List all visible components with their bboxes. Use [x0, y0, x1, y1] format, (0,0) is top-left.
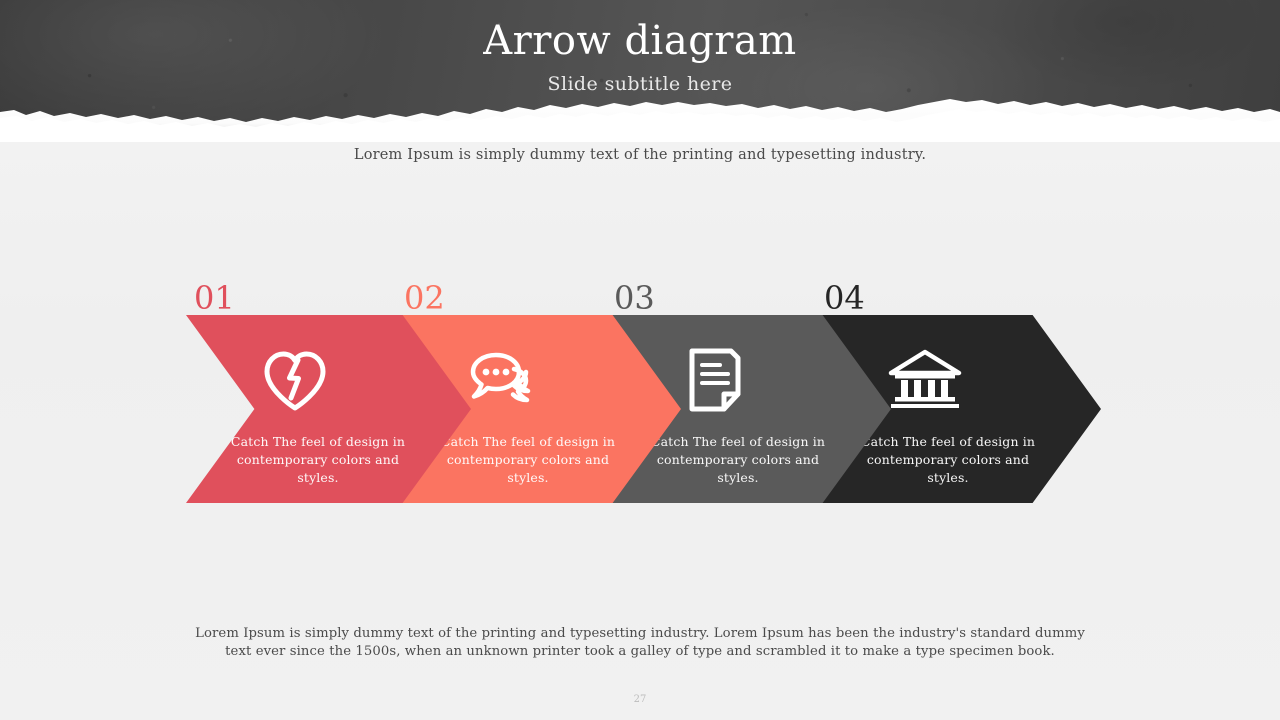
arrow-step-number-3: 03 [614, 282, 655, 314]
arrow-step-caption-1: Catch The feel of design in contemporary… [228, 433, 408, 486]
slide-canvas: Arrow diagram Slide subtitle here Lorem … [0, 0, 1280, 720]
page-number: 27 [0, 694, 1280, 705]
arrow-step-1[interactable]: 01 Catch The feel of design in contempor… [186, 315, 471, 503]
lead-paragraph: Lorem Ipsum is simply dummy text of the … [0, 147, 1280, 163]
slide-header-band: Arrow diagram Slide subtitle here [0, 0, 1280, 122]
page-title: Arrow diagram [0, 18, 1280, 64]
page-subtitle: Slide subtitle here [0, 73, 1280, 95]
arrow-step-number-4: 04 [824, 282, 865, 314]
arrow-diagram: 01 Catch The feel of design in contempor… [186, 285, 1094, 510]
arrow-step-number-2: 02 [404, 282, 445, 314]
broken-heart-icon [186, 347, 404, 417]
arrow-step-number-1: 01 [194, 282, 235, 314]
footer-paragraph: Lorem Ipsum is simply dummy text of the … [190, 625, 1090, 661]
